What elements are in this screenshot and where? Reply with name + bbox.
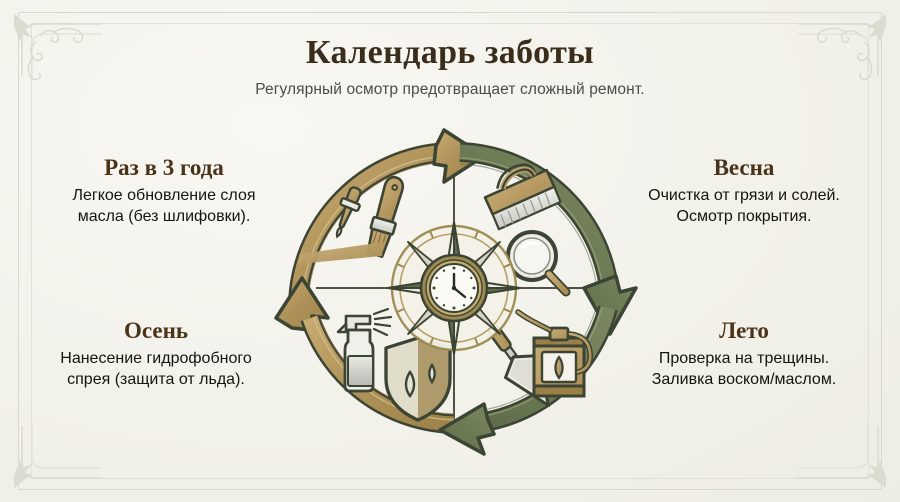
spray-bottle-icon — [338, 309, 391, 391]
corner-ornament-bottom-left — [10, 418, 106, 496]
block-bottom-left: Осень Нанесение гидрофобного спрея (защи… — [40, 318, 272, 391]
block-bottom-left-heading: Осень — [40, 318, 272, 343]
block-bottom-left-body: Нанесение гидрофобного спрея (защита от … — [40, 349, 272, 391]
block-top-left: Раз в 3 года Легкое обновление слоя масл… — [48, 155, 280, 228]
corner-ornament-bottom-right — [794, 418, 890, 496]
page-subtitle: Регулярный осмотр предотвращает сложный … — [0, 81, 900, 100]
cycle-diagram — [258, 112, 650, 464]
block-top-left-body: Легкое обновление слоя масла (без шлифов… — [48, 186, 280, 228]
block-bottom-right-heading: Лето — [628, 318, 860, 343]
block-top-right-heading: Весна — [628, 155, 860, 180]
block-top-right: Весна Очистка от грязи и солей. Осмотр п… — [628, 155, 860, 228]
block-bottom-right-body: Проверка на трещины. Заливка воском/масл… — [628, 349, 860, 391]
compass-clock-icon — [388, 222, 520, 354]
header: Календарь заботы Регулярный осмотр предо… — [0, 34, 900, 100]
infographic-canvas: Календарь заботы Регулярный осмотр предо… — [0, 0, 900, 502]
block-top-left-heading: Раз в 3 года — [48, 155, 280, 180]
block-top-right-body: Очистка от грязи и солей. Осмотр покрыти… — [628, 186, 860, 228]
block-bottom-right: Лето Проверка на трещины. Заливка воском… — [628, 318, 860, 391]
page-title: Календарь заботы — [0, 34, 900, 71]
